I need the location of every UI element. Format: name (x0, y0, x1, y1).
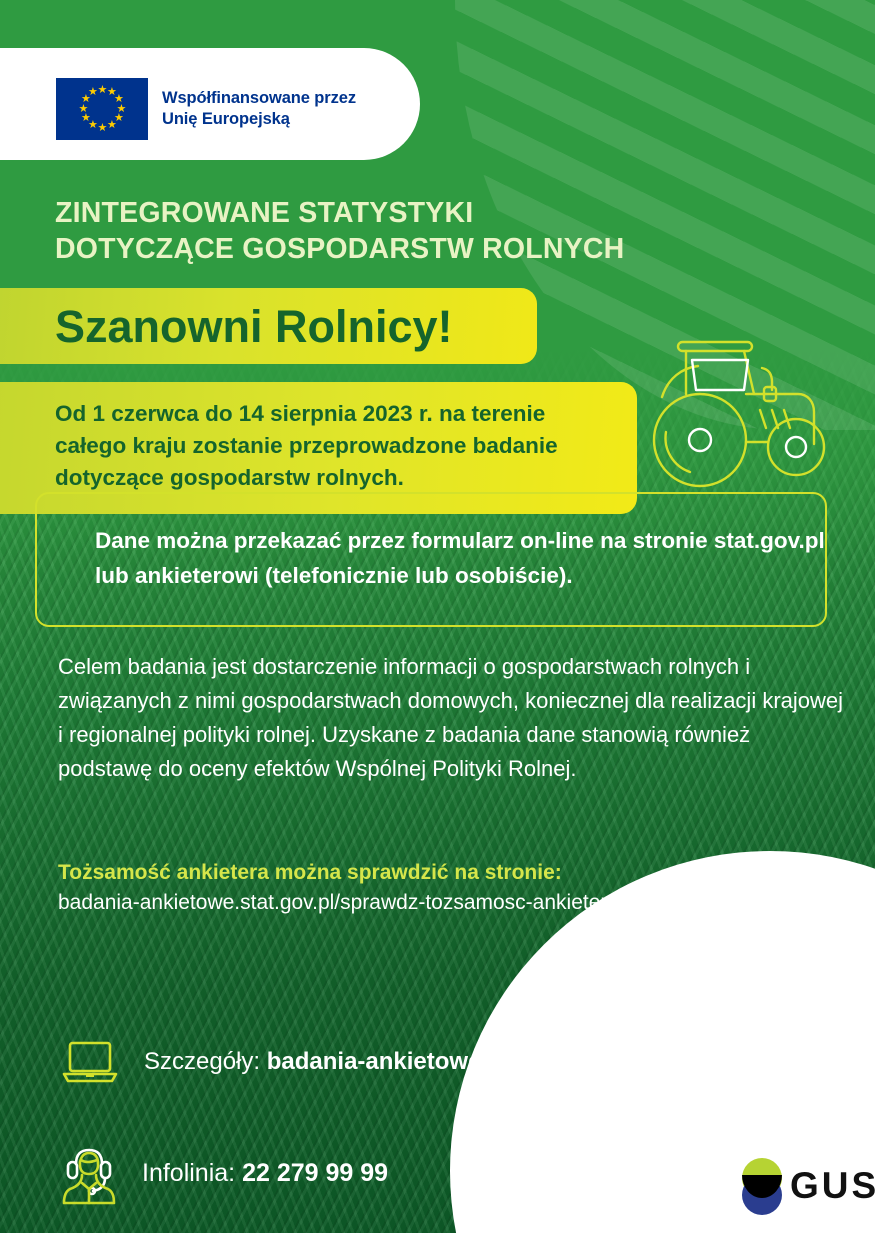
interviewer-identity-url[interactable]: badania-ankietowe.stat.gov.pl/sprawdz-to… (58, 888, 848, 918)
details-url-rest: .stat.gov.pl (481, 1048, 595, 1075)
poster-root: ★★★★★★★★★★★★ Współfinansowane przez Unię… (0, 0, 875, 1241)
eu-star-icon: ★ (98, 86, 107, 95)
page-title-line1: ZINTEGROWANE STATYSTYKI (55, 196, 695, 232)
details-prefix: Szczegóły: (144, 1048, 267, 1075)
tractor-illustration (648, 332, 863, 497)
online-form-note-text: Dane można przekazać przez formularz on-… (95, 524, 835, 594)
headset-operator-icon (58, 1138, 120, 1208)
details-url-bold: badania-ankietowe (267, 1048, 482, 1075)
hotline-label: Infolinia: (142, 1159, 242, 1187)
eu-banner-line2: Unię Europejską (162, 109, 356, 130)
page-title: ZINTEGROWANE STATYSTYKI DOTYCZĄCE GOSPOD… (55, 196, 695, 268)
laptop-icon (62, 1040, 118, 1084)
details-text: Szczegóły: badania-ankietowe.stat.gov.pl (144, 1050, 596, 1074)
eu-star-icon: ★ (88, 88, 97, 97)
gus-logo-mark (742, 1158, 786, 1214)
page-title-line2: DOTYCZĄCE GOSPODARSTW ROLNYCH (55, 232, 695, 268)
european-union-flag: ★★★★★★★★★★★★ (56, 78, 148, 140)
interviewer-identity-label: Tożsamość ankietera można sprawdzić na s… (58, 858, 848, 888)
eu-banner-line1: Współfinansowane przez (162, 88, 356, 109)
eu-star-icon: ★ (107, 121, 116, 130)
interviewer-identity-block: Tożsamość ankietera można sprawdzić na s… (58, 858, 848, 919)
hotline-text: Infolinia: 22 279 99 99 (142, 1161, 388, 1186)
gus-wordmark: GUS (790, 1165, 875, 1207)
details-row: Szczegóły: badania-ankietowe.stat.gov.pl (62, 1040, 596, 1084)
gus-logo: GUS (742, 1158, 875, 1214)
eu-star-icon: ★ (79, 105, 88, 114)
eu-banner-text: Współfinansowane przez Unię Europejską (162, 88, 356, 130)
body-paragraph: Celem badania jest dostarczenie informac… (58, 650, 848, 786)
hotline-row: Infolinia: 22 279 99 99 (58, 1138, 388, 1208)
bottom-white-strip (0, 1233, 875, 1241)
highlight-paragraph: Od 1 czerwca do 14 sierpnia 2023 r. na t… (55, 401, 558, 490)
hotline-number: 22 279 99 99 (242, 1159, 388, 1187)
highlight-heading: Szanowni Rolnicy! (55, 302, 511, 352)
eu-star-icon: ★ (81, 114, 90, 123)
eu-cofunding-banner: ★★★★★★★★★★★★ Współfinansowane przez Unię… (56, 78, 356, 140)
eu-star-icon: ★ (98, 124, 107, 133)
highlight-heading-box: Szanowni Rolnicy! (0, 288, 537, 364)
